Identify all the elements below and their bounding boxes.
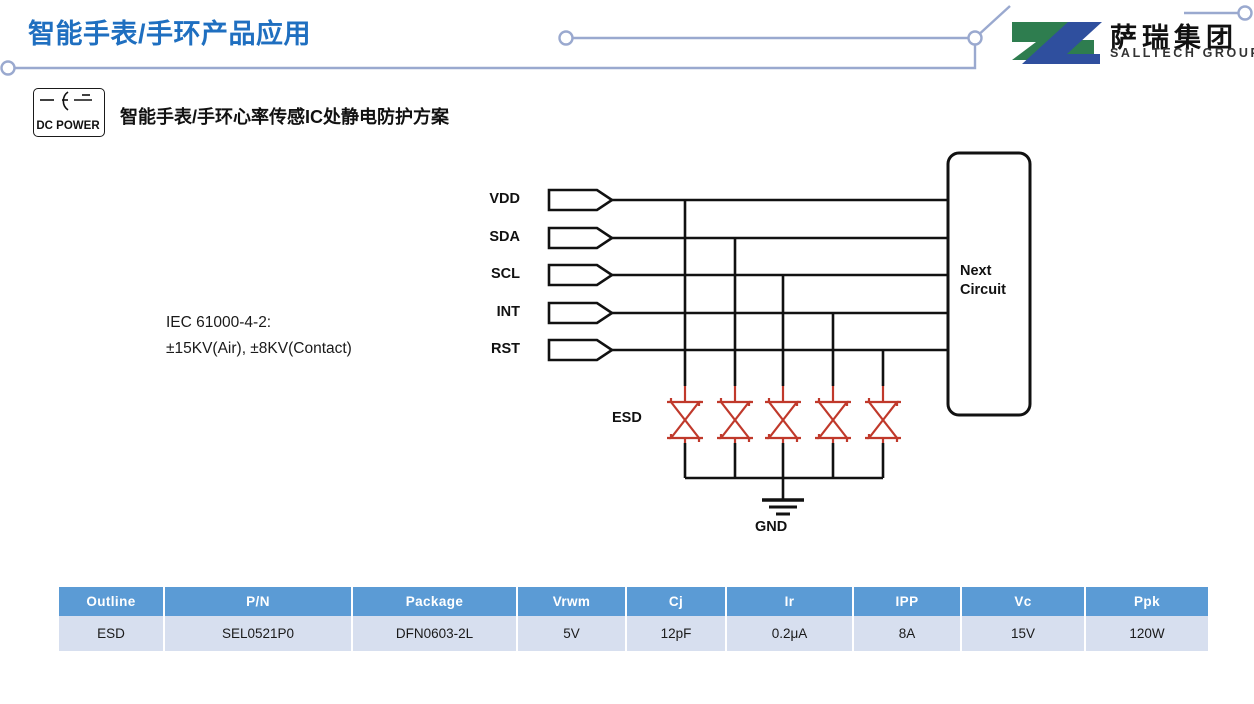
cell-vrwm: 5V — [518, 616, 625, 651]
esd-diode — [765, 386, 801, 443]
table-header-cj: Cj — [627, 587, 725, 616]
esd-diode — [717, 386, 753, 443]
next-circuit-line1: Next — [960, 262, 1006, 281]
table-header-pn: P/N — [165, 587, 351, 616]
dc-power-label: DC POWER — [33, 120, 103, 132]
esd-diode-array — [667, 386, 901, 443]
diode-tap-wires — [685, 200, 883, 386]
signal-label-vdd: VDD — [420, 191, 520, 207]
signal-label-rst: RST — [420, 341, 520, 357]
signal-connector-vdd — [549, 190, 612, 210]
ground-bus — [685, 443, 883, 500]
signal-connector-scl — [549, 265, 612, 285]
iec-standard-note: IEC 61000-4-2: ±15KV(Air), ±8KV(Contact) — [166, 310, 352, 362]
esd-protection-schematic — [440, 140, 1060, 560]
cell-ppk: 120W — [1086, 616, 1208, 651]
spec-table: Outline P/N Package Vrwm Cj Ir IPP Vc Pp… — [57, 587, 1210, 651]
next-circuit-line2: Circuit — [960, 281, 1006, 300]
dc-power-icon — [34, 89, 100, 119]
signal-wires — [612, 200, 948, 350]
table-header-package: Package — [353, 587, 516, 616]
signal-connector-int — [549, 303, 612, 323]
table-row: ESD SEL0521P0 DFN0603-2L 5V 12pF 0.2μA 8… — [59, 616, 1208, 651]
iec-note-line1: IEC 61000-4-2: — [166, 310, 352, 336]
table-header-vc: Vc — [962, 587, 1084, 616]
table-header-ipp: IPP — [854, 587, 960, 616]
section-heading: 智能手表/手环心率传感IC处静电防护方案 — [120, 103, 449, 129]
signal-connector-sda — [549, 228, 612, 248]
cell-vc: 15V — [962, 616, 1084, 651]
table-header-ir: Ir — [727, 587, 852, 616]
next-circuit-label: Next Circuit — [960, 262, 1006, 300]
cell-pn: SEL0521P0 — [165, 616, 351, 651]
cell-outline: ESD — [59, 616, 163, 651]
signal-label-sda: SDA — [420, 229, 520, 245]
table-header-row: Outline P/N Package Vrwm Cj Ir IPP Vc Pp… — [59, 587, 1208, 616]
esd-label: ESD — [612, 410, 642, 426]
signal-label-int: INT — [420, 304, 520, 320]
cell-cj: 12pF — [627, 616, 725, 651]
iec-note-line2: ±15KV(Air), ±8KV(Contact) — [166, 336, 352, 362]
table-header-outline: Outline — [59, 587, 163, 616]
table-header-vrwm: Vrwm — [518, 587, 625, 616]
signal-connector-rst — [549, 340, 612, 360]
esd-diode — [865, 386, 901, 443]
logo-name-en: SALLTECH GROUP — [1110, 46, 1254, 60]
signal-label-scl: SCL — [420, 266, 520, 282]
cell-package: DFN0603-2L — [353, 616, 516, 651]
cell-ir: 0.2μA — [727, 616, 852, 651]
esd-diode — [667, 386, 703, 443]
ground-icon — [762, 500, 804, 514]
page-title: 智能手表/手环产品应用 — [28, 12, 311, 51]
esd-diode — [815, 386, 851, 443]
table-header-ppk: Ppk — [1086, 587, 1208, 616]
cell-ipp: 8A — [854, 616, 960, 651]
gnd-label: GND — [755, 519, 787, 535]
